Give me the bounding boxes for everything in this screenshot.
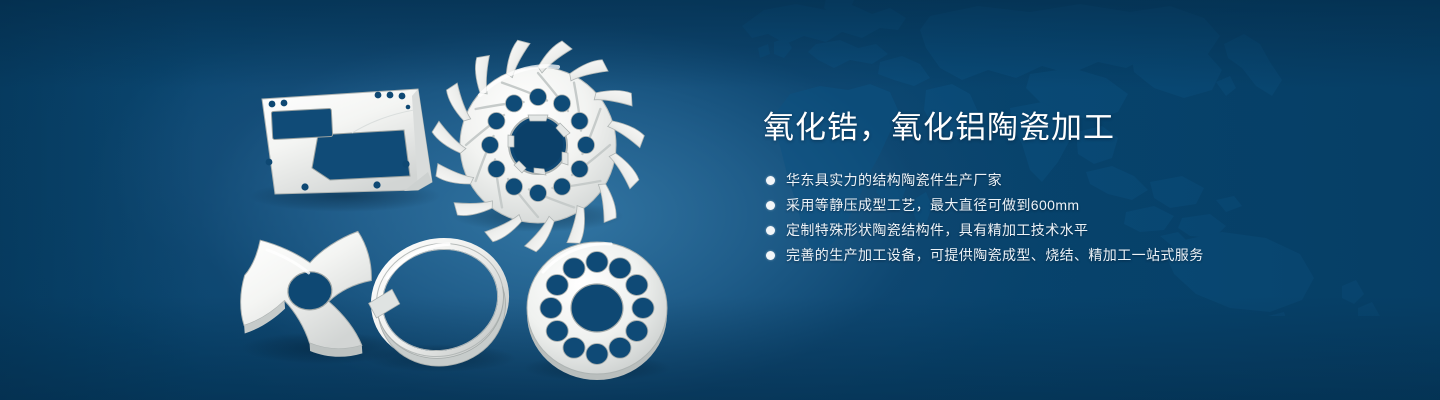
bullet-dot-icon xyxy=(766,251,775,260)
ceramic-plate xyxy=(262,89,432,194)
feature-bullet-list: 华东具实力的结构陶瓷件生产厂家 采用等静压成型工艺，最大直径可做到600mm 定… xyxy=(763,169,1383,266)
bullet-text: 完善的生产加工设备，可提供陶瓷成型、烧结、精加工一站式服务 xyxy=(786,244,1204,266)
banner-text-block: 氧化锆，氧化铝陶瓷加工 华东具实力的结构陶瓷件生产厂家 采用等静压成型工艺，最大… xyxy=(763,108,1383,269)
list-item: 采用等静压成型工艺，最大直径可做到600mm xyxy=(763,194,1383,216)
list-item: 华东具实力的结构陶瓷件生产厂家 xyxy=(763,169,1383,191)
bullet-text: 采用等静压成型工艺，最大直径可做到600mm xyxy=(786,194,1079,216)
banner-headline: 氧化锆，氧化铝陶瓷加工 xyxy=(763,108,1383,148)
bullet-dot-icon xyxy=(766,201,775,210)
bullet-dot-icon xyxy=(766,226,775,235)
bullet-text: 华东具实力的结构陶瓷件生产厂家 xyxy=(786,169,1002,191)
bullet-text: 定制特殊形状陶瓷结构件，具有精加工技术水平 xyxy=(786,219,1088,241)
product-banner: 氧化锆，氧化铝陶瓷加工 华东具实力的结构陶瓷件生产厂家 采用等静压成型工艺，最大… xyxy=(0,0,1440,400)
bullet-dot-icon xyxy=(766,176,775,185)
ceramic-perforated-disc xyxy=(527,242,667,380)
list-item: 定制特殊形状陶瓷结构件，具有精加工技术水平 xyxy=(763,219,1383,241)
list-item: 完善的生产加工设备，可提供陶瓷成型、烧结、精加工一站式服务 xyxy=(763,244,1383,266)
